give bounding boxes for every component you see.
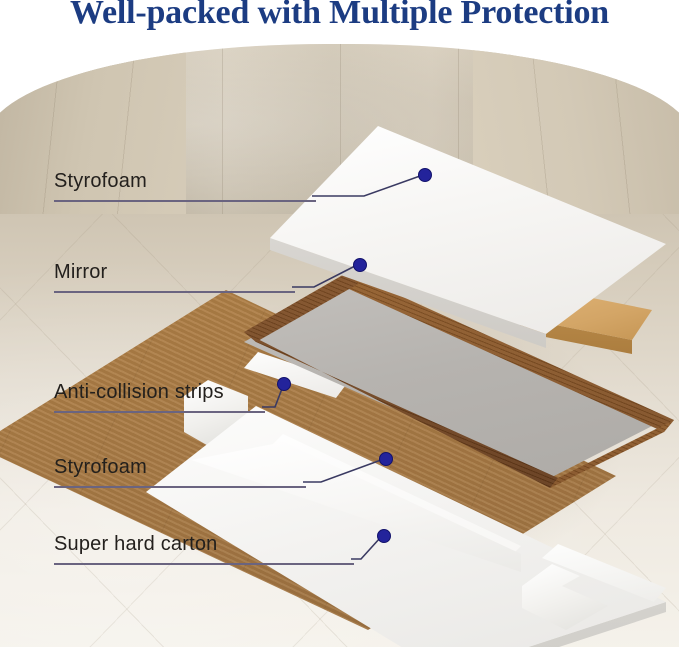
callout-underline: [54, 411, 265, 413]
callout-underline: [54, 486, 306, 488]
packaging-infographic: Well-packed with Multiple Protection: [0, 0, 679, 647]
callout-mirror: Mirror: [54, 267, 384, 293]
callout-dot: [354, 259, 367, 272]
callout-leader: [262, 377, 592, 417]
callout-styrofoam-bottom: Styrofoam: [54, 462, 384, 488]
callout-dot: [380, 453, 393, 466]
callout-leader: [303, 452, 633, 492]
callout-leader: [351, 529, 679, 569]
callout-dot: [419, 169, 432, 182]
callout-label: Mirror: [54, 261, 107, 284]
callout-leader: [292, 257, 622, 297]
callout-super-hard-carton: Super hard carton: [54, 539, 414, 565]
callout-label: Styrofoam: [54, 170, 147, 193]
callout-underline: [54, 291, 295, 293]
callout-styrofoam-top: Styrofoam: [54, 176, 384, 202]
callout-dot: [278, 378, 291, 391]
callout-label: Anti-collision strips: [54, 381, 224, 404]
callout-underline: [54, 563, 354, 565]
callout-anti-collision-strips: Anti-collision strips: [54, 387, 384, 413]
callout-dot: [378, 530, 391, 543]
page-title: Well-packed with Multiple Protection: [0, 0, 679, 32]
callout-leader: [312, 166, 642, 206]
callout-label: Super hard carton: [54, 533, 218, 556]
callout-underline: [54, 200, 316, 202]
callout-label: Styrofoam: [54, 456, 147, 479]
